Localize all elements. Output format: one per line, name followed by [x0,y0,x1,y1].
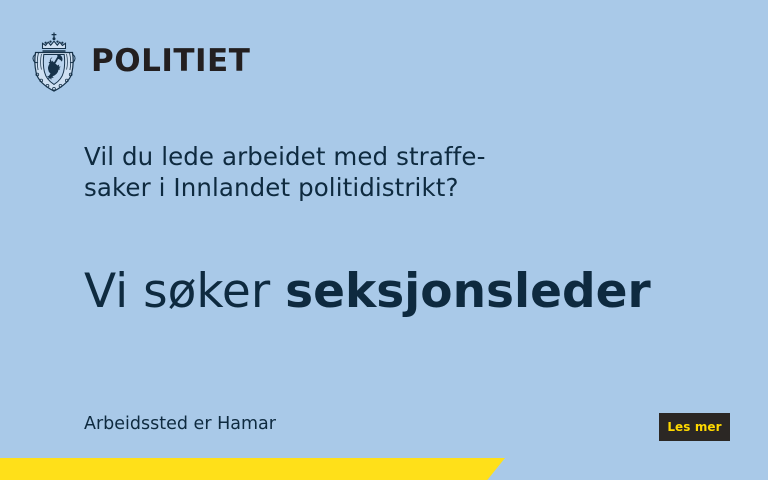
les-mer-button[interactable]: Les mer [659,413,730,441]
location-text: Arbeidssted er Hamar [84,413,276,435]
headline: Vi søker seksjonsleder [84,266,651,318]
headline-light-part: Vi søker [84,264,285,319]
subheading-line-2: saker i Innlandet politidistrikt? [84,172,604,203]
politiet-wordmark: POLITIET [91,46,250,77]
job-advert-banner: POLITIET Vil du lede arbeidet med straff… [0,0,768,480]
headline-bold-part: seksjonsleder [285,264,651,319]
politiet-logo[interactable]: POLITIET [26,30,250,92]
subheading-line-1: Vil du lede arbeidet med straffe- [84,141,604,172]
yellow-accent-stripe [0,458,505,480]
norwegian-coat-of-arms-icon [26,30,82,92]
subheading: Vil du lede arbeidet med straffe- saker … [84,141,604,203]
les-mer-button-label: Les mer [667,421,721,433]
